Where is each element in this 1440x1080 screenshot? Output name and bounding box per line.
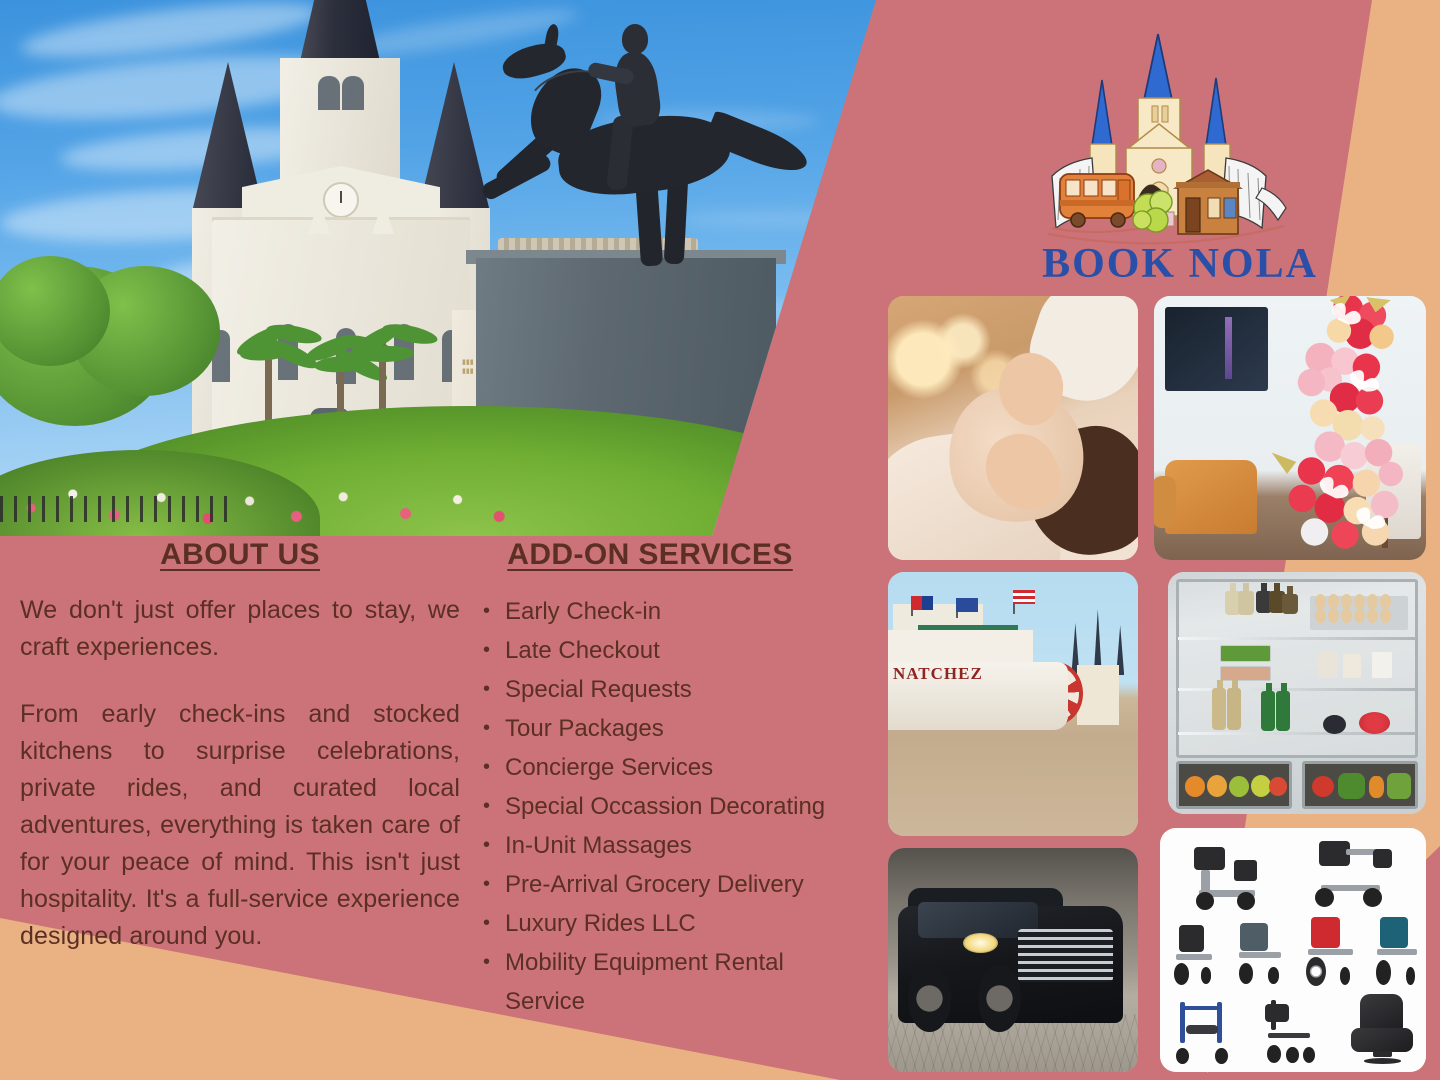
list-item: Early Check-in	[483, 592, 845, 631]
list-item: Special Requests	[483, 670, 845, 709]
jar	[1318, 652, 1339, 679]
suv-wheel	[978, 965, 1021, 1032]
wine-bottle	[1227, 688, 1241, 730]
about-paragraph: From early check-ins and stocked kitchen…	[20, 696, 460, 955]
mini-cathedral-body	[1077, 665, 1119, 725]
strawberry-bowl	[1359, 712, 1390, 734]
book-nola-logo: BOOK NOLA	[1030, 8, 1330, 288]
gallery-card-luxury-suv	[888, 848, 1138, 1072]
gallery-card-mobility-equipment	[1160, 828, 1426, 1072]
salad-container	[1220, 645, 1272, 662]
rollator-walker	[1173, 999, 1237, 1067]
fruit-bowl	[1323, 715, 1346, 734]
balloon-cluster-icon	[1257, 296, 1415, 560]
jar	[1343, 654, 1361, 678]
stocked-fridge-photo	[1168, 572, 1426, 814]
photo-gallery: NATCHEZ	[888, 296, 1426, 1072]
rider-head-with-hat	[622, 24, 648, 54]
red-wheelchair	[1304, 916, 1363, 989]
gallery-card-balloon-decor	[1154, 296, 1426, 560]
boat-name-text: NATCHEZ	[893, 664, 983, 684]
about-us-body: We don't just offer places to stay, we c…	[20, 592, 460, 955]
tower-window	[342, 76, 364, 110]
add-on-services-heading: ADD-ON SERVICES	[455, 538, 845, 574]
suv-grille	[1018, 929, 1113, 983]
teal-wheelchair	[1373, 916, 1426, 989]
logo-wordmark: BOOK NOLA	[1030, 240, 1330, 288]
list-item: Late Checkout	[483, 631, 845, 670]
about-paragraph: We don't just offer places to stay, we c…	[20, 592, 460, 666]
list-item: Mobility Equipment Rental Service	[483, 943, 845, 1021]
mobility-equipment-photo	[1160, 828, 1426, 1072]
suv-wheel	[908, 965, 951, 1032]
list-item: Concierge Services	[483, 748, 845, 787]
about-us-heading: ABOUT US	[20, 538, 460, 574]
add-on-services-list: Early Check-in Late Checkout Special Req…	[455, 592, 845, 1021]
oil-bottle	[1238, 591, 1254, 615]
mobility-scooter	[1304, 838, 1400, 911]
tower-window	[318, 76, 340, 110]
fruit-drawer	[1176, 761, 1292, 809]
list-item: Luxury Rides LLC	[483, 904, 845, 943]
gallery-card-stocked-fridge	[1168, 572, 1426, 814]
vegetable-drawer	[1302, 761, 1418, 809]
list-item: In-Unit Massages	[483, 826, 845, 865]
list-item: Special Occassion Decorating	[483, 787, 845, 826]
balloon-decor-photo	[1154, 296, 1426, 560]
flag	[911, 596, 933, 610]
cathedral-clock	[323, 182, 359, 218]
steamboat-natchez-photo: NATCHEZ	[888, 572, 1138, 836]
sparkling-water-bottle	[1261, 691, 1275, 731]
knee-walker	[1256, 999, 1325, 1067]
lift-recliner-chair	[1346, 994, 1420, 1067]
condiment-bottle	[1282, 594, 1298, 614]
armchair	[1165, 460, 1257, 534]
spa-massage-photo	[888, 296, 1138, 560]
andrew-jackson-equestrian-statue	[470, 0, 800, 266]
transport-wheelchair	[1234, 921, 1293, 989]
iron-fence	[0, 496, 230, 522]
sparkling-water-bottle	[1276, 691, 1290, 731]
about-us-section: ABOUT US We don't just offer places to s…	[20, 538, 460, 955]
flag	[956, 598, 978, 612]
fridge-shelf	[1178, 637, 1415, 640]
add-on-services-section: ADD-ON SERVICES Early Check-in Late Chec…	[455, 538, 845, 1021]
us-flag	[1013, 590, 1035, 604]
list-item: Tour Packages	[483, 709, 845, 748]
wall-television	[1165, 307, 1268, 391]
gallery-card-steamboat-natchez: NATCHEZ	[888, 572, 1138, 836]
balloon-arch	[1257, 296, 1415, 560]
wine-bottle	[1212, 688, 1226, 730]
list-item: Pre-Arrival Grocery Delivery	[483, 865, 845, 904]
mobility-scooter	[1181, 843, 1271, 911]
power-wheelchair	[1168, 921, 1227, 989]
gallery-card-spa-massage	[888, 296, 1138, 560]
luxury-suv-photo	[888, 848, 1138, 1072]
yogurt-cup	[1372, 652, 1393, 679]
meat-container	[1220, 666, 1272, 681]
